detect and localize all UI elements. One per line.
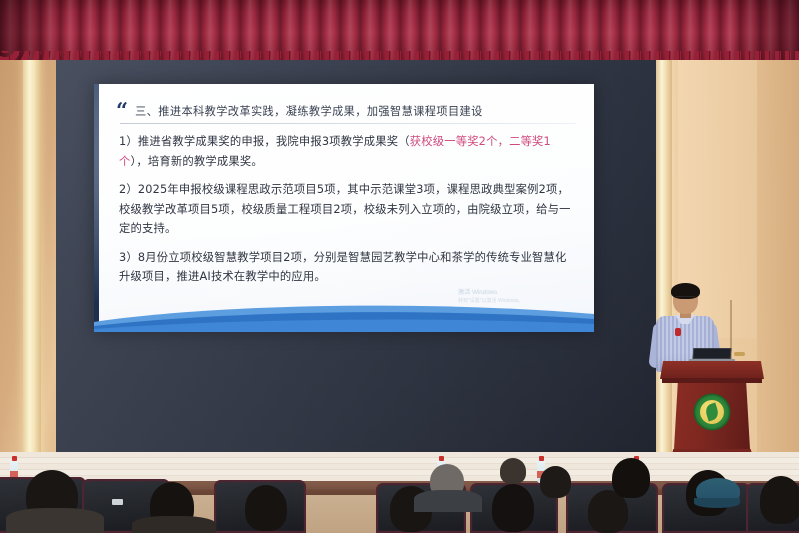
audience-shoulders bbox=[6, 508, 104, 533]
slide-title-divider bbox=[120, 123, 576, 124]
para3-seg1: 3）8月份立项校级智慧教学项目2项，分别是智慧园艺教学中心和茶学的传统专业智慧化… bbox=[119, 251, 567, 284]
seat-number-tag bbox=[112, 499, 123, 505]
audience-shoulders bbox=[132, 516, 216, 533]
door-handle[interactable] bbox=[734, 352, 745, 356]
para1-seg3: ），培育新的教学成果奖。 bbox=[131, 155, 263, 168]
slide-paragraph-2: 2）2025年申报校级课程思政示范项目5项，其中示范课堂3项，课程思政典型案例2… bbox=[119, 180, 571, 239]
slide-title-row: “ 三、推进本科教学改革实践，凝练教学成果，加强智慧课程项目建设 bbox=[116, 100, 578, 121]
stage-curtain bbox=[0, 0, 799, 60]
presenter-badge bbox=[675, 328, 681, 336]
audience-head bbox=[492, 484, 534, 532]
audience-head bbox=[540, 466, 571, 498]
audience-head bbox=[760, 476, 799, 524]
slide-body: 1）推进省教学成果奖的申报，我院申报3项教学成果奖（获校级一等奖2个，二等奖1个… bbox=[119, 132, 571, 296]
audience-cap-brim bbox=[694, 498, 740, 508]
watermark-line-1: 激活 Windows bbox=[458, 289, 578, 297]
audience-head bbox=[612, 458, 650, 498]
laptop-on-podium[interactable] bbox=[689, 348, 733, 362]
podium-lip bbox=[662, 378, 762, 383]
para2-seg1: 2）2025年申报校级课程思政示范项目5项，其中示范课堂3项，课程思政典型案例2… bbox=[119, 183, 571, 235]
audience-shoulders bbox=[414, 490, 482, 512]
conference-hall-scene: “ 三、推进本科教学改革实践，凝练教学成果，加强智慧课程项目建设 1）推进省教学… bbox=[0, 0, 799, 533]
slide-paragraph-1: 1）推进省教学成果奖的申报，我院申报3项教学成果奖（获校级一等奖2个，二等奖1个… bbox=[119, 132, 571, 171]
podium-top bbox=[660, 361, 764, 379]
laptop-screen bbox=[693, 348, 732, 359]
audience-head bbox=[500, 458, 526, 484]
presenter-glasses bbox=[675, 296, 696, 301]
university-emblem-icon bbox=[695, 395, 729, 429]
quote-mark-icon: “ bbox=[116, 100, 126, 121]
left-gold-light-strip bbox=[23, 42, 41, 470]
audience-head bbox=[245, 485, 287, 531]
slide-paragraph-3: 3）8月份立项校级智慧教学项目2项，分别是智慧园艺教学中心和茶学的传统专业智慧化… bbox=[119, 248, 571, 287]
presentation-slide: “ 三、推进本科教学改革实践，凝练教学成果，加强智慧课程项目建设 1）推进省教学… bbox=[94, 84, 594, 332]
slide-bottom-wave-decoration bbox=[94, 298, 594, 332]
slide-title: 三、推进本科教学改革实践，凝练教学成果，加强智慧课程项目建设 bbox=[135, 103, 483, 119]
para1-seg1: 1）推进省教学成果奖的申报，我院申报3项教学成果奖（ bbox=[119, 135, 410, 148]
slide-left-accent-bar bbox=[94, 84, 99, 332]
curtain-scalloped-hem bbox=[0, 51, 799, 60]
